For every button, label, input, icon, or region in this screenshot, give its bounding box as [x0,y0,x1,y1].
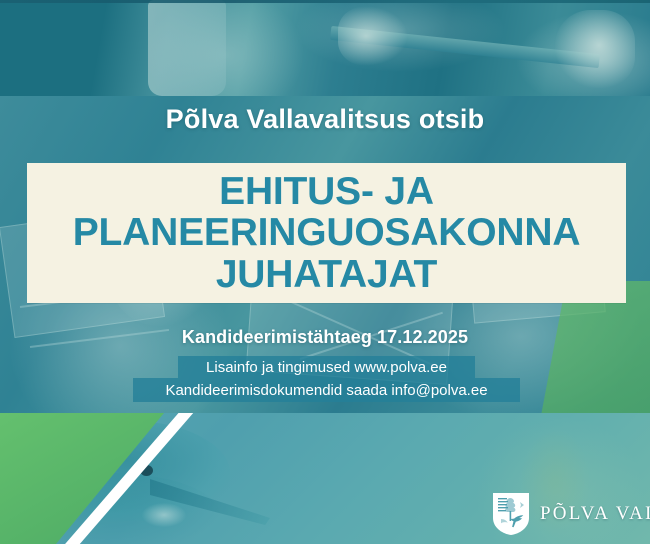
job-title: EHITUS- JA PLANEERINGUOSAKONNA JUHATAJAT [27,163,626,303]
logo-text: PÕLVA VALD [540,503,650,525]
background-object-cup [148,0,226,96]
kingfisher-throat-patch [142,503,186,527]
headline: Põlva Vallavalitsus otsib [0,104,650,135]
background-object-hand-right [555,10,635,88]
job-advert-poster: Põlva Vallavalitsus otsib EHITUS- JA PLA… [0,0,650,544]
application-deadline: Kandideerimistähtaeg 17.12.2025 [0,327,650,348]
background-object-hand-left [338,6,408,66]
title-card: EHITUS- JA PLANEERINGUOSAKONNA JUHATAJAT [27,163,626,303]
info-line-website: Lisainfo ja tingimused www.polva.ee [178,356,475,378]
info-line-email: Kandideerimisdokumendid saada info@polva… [133,378,520,402]
top-edge-strip [0,0,650,3]
shield-icon [492,492,530,536]
top-photo-band [0,0,650,96]
polva-vald-logo: PÕLVA VALD [492,492,650,536]
